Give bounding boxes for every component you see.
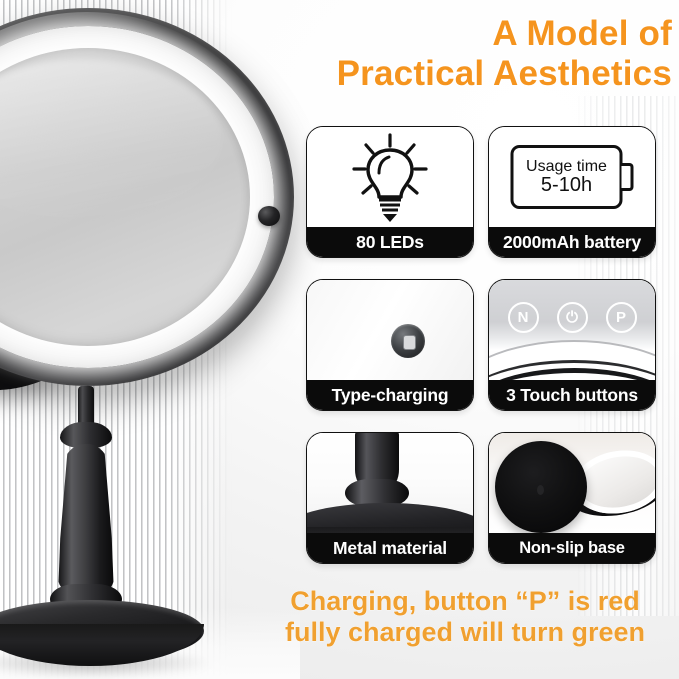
card-media	[489, 433, 655, 533]
feature-card-row-1: 80 LEDs Usage time 5-10h 2000mAh battery	[306, 126, 656, 258]
headline: A Model of Practical Aesthetics	[262, 14, 672, 94]
usb-c-port-photo	[307, 280, 473, 380]
card-caption: Metal material	[307, 533, 473, 563]
non-slip-pad-dimple	[537, 485, 544, 495]
mirror-head	[0, 8, 302, 398]
footer-note: Charging, button “P” is red fully charge…	[255, 586, 675, 648]
battery-body: Usage time 5-10h	[511, 145, 623, 209]
feature-card-type-charging[interactable]: Type-charging	[306, 279, 474, 411]
battery-usage-label: Usage time	[526, 158, 607, 175]
mirror-edge-frame	[307, 280, 473, 380]
battery-icon: Usage time 5-10h	[511, 145, 634, 209]
feature-card-touch-buttons[interactable]: N ⏻ P 3 Touch buttons	[488, 279, 656, 411]
card-media: N ⏻ P	[489, 280, 655, 380]
battery-terminal	[622, 163, 634, 191]
touch-button-power-icon[interactable]: ⏻	[557, 302, 588, 333]
feature-card-metal-material[interactable]: Metal material	[306, 432, 474, 564]
pivot-knob-icon	[258, 206, 280, 226]
footer-note-line-1: Charging, button “P” is red	[290, 586, 640, 616]
product-mirror	[0, 8, 342, 679]
card-caption: 80 LEDs	[307, 227, 473, 257]
card-media	[307, 433, 473, 533]
card-caption: Type-charging	[307, 380, 473, 410]
marketing-image-canvas: A Model of Practical Aesthetics	[0, 0, 679, 679]
card-caption: 2000mAh battery	[489, 227, 655, 257]
feature-card-80-leds[interactable]: 80 LEDs	[306, 126, 474, 258]
footer-note-line-2: fully charged will turn green	[255, 617, 675, 648]
headline-line-2: Practical Aesthetics	[262, 54, 672, 94]
headline-line-1: A Model of	[492, 14, 672, 53]
stem-body	[58, 444, 114, 596]
touch-button-group: N ⏻ P	[489, 302, 655, 333]
touch-buttons-photo: N ⏻ P	[489, 280, 655, 380]
card-media	[307, 127, 473, 227]
feature-card-row-2: Type-charging N ⏻ P 3 T	[306, 279, 656, 411]
battery-usage-value: 5-10h	[541, 175, 592, 196]
card-caption: 3 Touch buttons	[489, 380, 655, 410]
non-slip-base-photo	[489, 433, 655, 533]
card-media	[307, 280, 473, 380]
metal-base-photo	[307, 433, 473, 533]
feature-card-row-3: Metal material Non-slip base	[306, 432, 656, 564]
card-media: Usage time 5-10h	[489, 127, 655, 227]
lightbulb-icon	[342, 129, 438, 225]
feature-card-grid: 80 LEDs Usage time 5-10h 2000mAh battery	[306, 126, 656, 585]
feature-card-non-slip-base[interactable]: Non-slip base	[488, 432, 656, 564]
touch-button-p[interactable]: P	[606, 302, 637, 333]
feature-card-battery[interactable]: Usage time 5-10h 2000mAh battery	[488, 126, 656, 258]
touch-button-n[interactable]: N	[508, 302, 539, 333]
charging-port-slot-icon	[403, 335, 416, 350]
card-caption: Non-slip base	[489, 533, 655, 563]
